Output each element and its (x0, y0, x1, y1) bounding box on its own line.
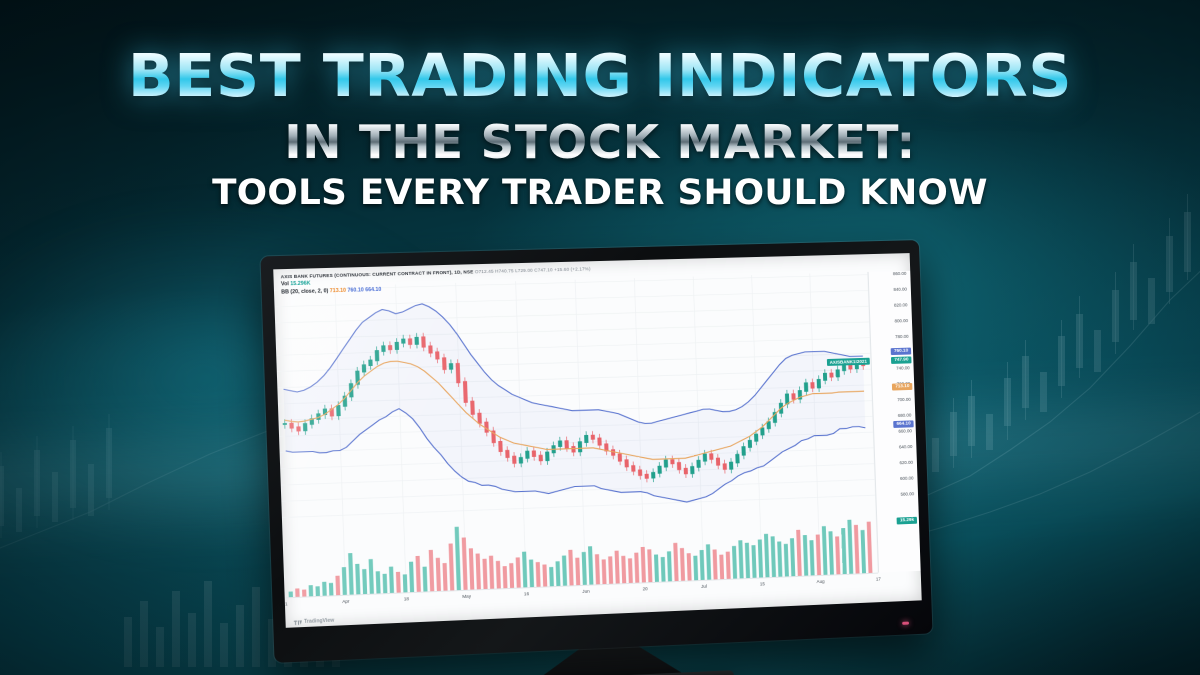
power-led-icon (902, 622, 909, 625)
time-tick: Jun (582, 589, 590, 594)
tradingview-label: TradingView (304, 618, 334, 625)
price-tick: 800.00 (894, 318, 908, 323)
poster-title-block: BEST TRADING INDICATORS IN THE STOCK MAR… (0, 46, 1200, 211)
trading-chart-screen[interactable]: AXIS BANK FUTURES (CONTINUOUS: CURRENT C… (273, 253, 921, 628)
bb-basis-value: 713.10 (330, 288, 346, 295)
bb-lower-price-badge[interactable]: 664.10 (894, 421, 914, 429)
price-tick: 840.00 (893, 287, 907, 292)
volume-price-badge[interactable]: 15.29k (897, 517, 917, 525)
last-price-badge[interactable]: 747.90 (891, 356, 911, 364)
volume-label: Vol (281, 281, 289, 287)
bb-upper-price-badge[interactable]: 760.10 (891, 347, 911, 355)
time-tick: 18 (404, 596, 409, 601)
price-tick: 580.00 (900, 491, 914, 496)
bb-lower-value: 664.10 (365, 287, 381, 293)
price-axis[interactable]: 860.00840.00820.00800.00780.00760.00740.… (868, 271, 921, 573)
time-tick: 16 (524, 591, 529, 596)
time-tick: 20 (643, 586, 648, 591)
symbol-price-tag[interactable]: AXISBANK1!2021 (827, 358, 870, 366)
price-tick: 860.00 (893, 271, 907, 276)
time-tick: 15 (760, 581, 765, 586)
tradingview-watermark: TradingView (294, 618, 335, 626)
volume-value: 15.296K (290, 281, 310, 288)
price-tick: 820.00 (894, 302, 908, 307)
monitor-mockup: AXIS BANK FUTURES (CONTINUOUS: CURRENT C… (260, 240, 932, 663)
price-tick: 680.00 (898, 412, 912, 417)
tradingview-logo-icon (294, 619, 302, 624)
bb-basis-price-badge[interactable]: 713.10 (892, 383, 912, 391)
price-tick: 660.00 (898, 428, 912, 433)
price-tick: 740.00 (896, 365, 910, 370)
time-tick: 21 (282, 601, 287, 606)
bb-upper-value: 760.10 (347, 287, 363, 294)
time-tick: Jul (701, 584, 707, 589)
price-tick: 620.00 (899, 460, 913, 465)
bb-label: BB (20, close, 2, 0) (281, 288, 328, 295)
time-tick: May (462, 594, 471, 599)
chart-plot-area[interactable]: AXISBANK1!2021 (274, 272, 878, 597)
price-tick: 780.00 (895, 334, 909, 339)
monitor-bezel: AXIS BANK FUTURES (CONTINUOUS: CURRENT C… (260, 240, 932, 663)
time-tick: Aug (816, 579, 824, 584)
price-tick: 640.00 (899, 444, 913, 449)
price-tick: 600.00 (900, 475, 914, 480)
page-subtitle: IN THE STOCK MARKET: (0, 119, 1200, 165)
price-tick: 700.00 (897, 397, 911, 402)
poster-canvas: BEST TRADING INDICATORS IN THE STOCK MAR… (0, 0, 1200, 675)
time-tick: Apr (342, 599, 349, 604)
time-tick: 17 (876, 576, 881, 581)
page-tagline: TOOLS EVERY TRADER SHOULD KNOW (0, 176, 1200, 211)
page-title: BEST TRADING INDICATORS (0, 46, 1200, 105)
